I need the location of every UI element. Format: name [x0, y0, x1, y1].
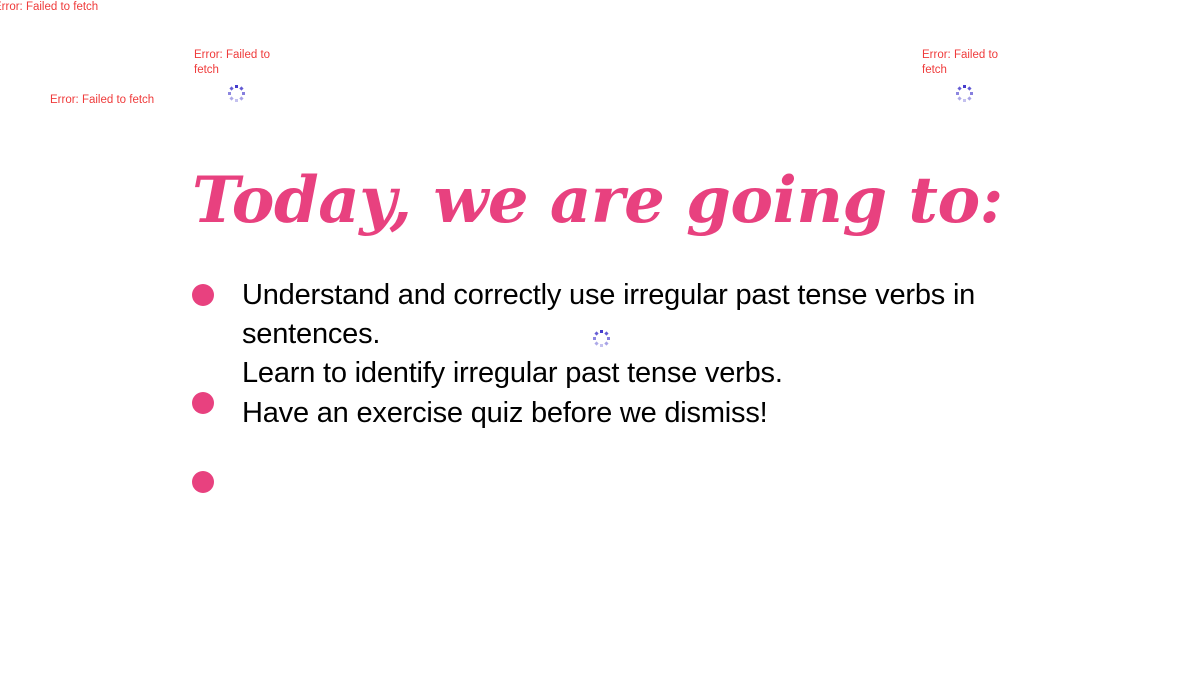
list-item: Learn to identify irregular past tense v…	[192, 354, 1072, 394]
error-message: Error: Failed to fetch	[0, 0, 154, 15]
list-item-empty	[192, 434, 1072, 494]
bullet-dot-icon	[192, 284, 214, 306]
loading-spinner-icon	[227, 84, 245, 102]
error-message: Error: Failed to fetch	[922, 48, 1002, 78]
list-item: Understand and correctly use irregular p…	[192, 276, 1072, 354]
list-item-label: Have an exercise quiz before we dismiss!	[242, 394, 1072, 433]
list-item-label: Understand and correctly use irregular p…	[242, 276, 1072, 354]
page-title: Today, we are going to:	[192, 163, 1092, 239]
error-message: Error: Failed to fetch	[50, 93, 210, 108]
loading-spinner-icon	[955, 84, 973, 102]
loading-spinner-icon	[592, 329, 610, 347]
error-message: Error: Failed to fetch	[194, 48, 274, 78]
list-item-label: Learn to identify irregular past tense v…	[242, 354, 1072, 393]
bullet-dot-icon	[192, 471, 214, 493]
objectives-list: Understand and correctly use irregular p…	[192, 276, 1072, 494]
list-item: Have an exercise quiz before we dismiss!	[192, 394, 1072, 434]
bullet-dot-icon	[192, 392, 214, 414]
